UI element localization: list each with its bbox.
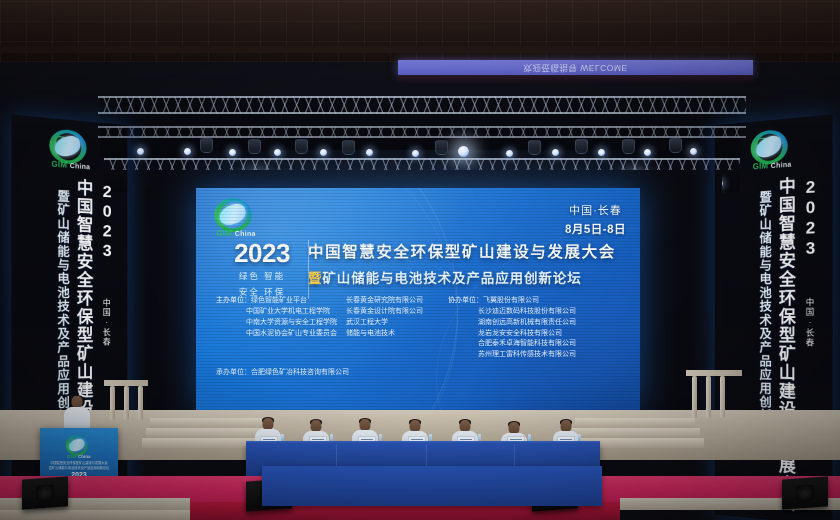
logo-brand-cn: GIM	[67, 454, 77, 459]
stage-lamp	[137, 148, 144, 155]
floor-monitor-speaker	[22, 476, 68, 509]
moving-head-light	[575, 139, 588, 154]
stage-step	[150, 418, 270, 428]
logo-brand-text: GIM China	[62, 454, 96, 459]
stage-lamp	[552, 149, 559, 156]
moving-head-light	[295, 139, 308, 154]
left-banner-year: 2023	[97, 182, 116, 262]
stage-lamp	[274, 149, 281, 156]
left-banner-logo: G GIM China	[43, 126, 98, 176]
baluster	[138, 386, 143, 420]
logo-brand-text: GIM China	[745, 159, 800, 172]
logo-brand-en: China	[771, 162, 792, 171]
podium-logo: G GIM China	[62, 434, 96, 460]
moving-head-light	[622, 139, 635, 154]
main-led-screen: G GIM China 中国·长春 8月5日-8日 2023 绿色 智能 安全 …	[196, 188, 640, 410]
baluster	[110, 386, 115, 420]
screen-scanline-texture	[196, 188, 640, 410]
ceiling-led-text: 欢迎莅临指导 WELCOME	[398, 60, 753, 75]
stage-lamp	[690, 148, 697, 155]
stage-lamp	[320, 149, 327, 156]
moving-head-light	[669, 138, 682, 153]
baluster	[692, 376, 697, 418]
moving-head-light	[435, 140, 448, 155]
logo-brand-en: China	[78, 455, 91, 459]
baluster	[706, 376, 711, 418]
baluster	[124, 386, 129, 420]
stage-lamp	[366, 149, 373, 156]
stage-lamp-bright	[458, 146, 469, 157]
stage-lamp	[598, 149, 605, 156]
stage-lamp	[644, 149, 651, 156]
right-banner-location: 中国·长春	[804, 298, 816, 348]
stage-step	[572, 428, 700, 438]
pit-drape	[262, 466, 602, 506]
ceiling-beam	[0, 46, 840, 53]
stage-lamp	[229, 149, 236, 156]
conference-stage-photo: 欢迎莅临指导 WELCOME	[0, 0, 840, 520]
left-banner-location: 中国·长春	[101, 298, 112, 346]
podium-line-2: 暨矿山储能与电池技术及产品应用创新论坛	[40, 466, 118, 471]
logo-brand-en: China	[70, 163, 90, 171]
logo-brand-cn: GIM	[753, 161, 769, 171]
stage-step	[575, 418, 695, 428]
torso	[64, 407, 90, 429]
floor-monitor-speaker	[782, 476, 828, 509]
podium-speaker	[62, 396, 92, 432]
right-banner-logo: G GIM China	[745, 126, 800, 176]
ceiling-led-banner: 欢迎莅临指导 WELCOME	[398, 60, 753, 75]
ceiling-led-shadow	[398, 75, 753, 84]
gim-logo: G GIM China	[62, 434, 96, 463]
baluster	[720, 376, 725, 418]
stage-lamp	[506, 150, 513, 157]
logo-brand-text: GIM China	[43, 159, 98, 172]
right-banner-year: 2023	[800, 177, 820, 259]
proscenium-top	[130, 170, 722, 190]
moving-head-light	[248, 139, 261, 154]
right-banner-title-main: 中国智慧安全环保型矿山建设与发展大会	[773, 176, 798, 520]
truss-upper	[98, 96, 746, 114]
moving-head-light	[200, 138, 213, 153]
logo-brand-cn: GIM	[51, 160, 67, 170]
truss-upper-secondary	[98, 126, 746, 138]
moving-head-light	[528, 140, 541, 155]
gim-logo: G GIM China	[43, 126, 98, 178]
stage-lamp	[184, 148, 191, 155]
moving-head-light	[342, 140, 355, 155]
right-banner-title-sub: 暨矿山储能与电池技术及产品应用创新论坛	[755, 190, 774, 520]
pit-step	[0, 510, 220, 520]
gim-logo: G GIM China	[745, 126, 800, 178]
stage-lamp	[412, 150, 419, 157]
